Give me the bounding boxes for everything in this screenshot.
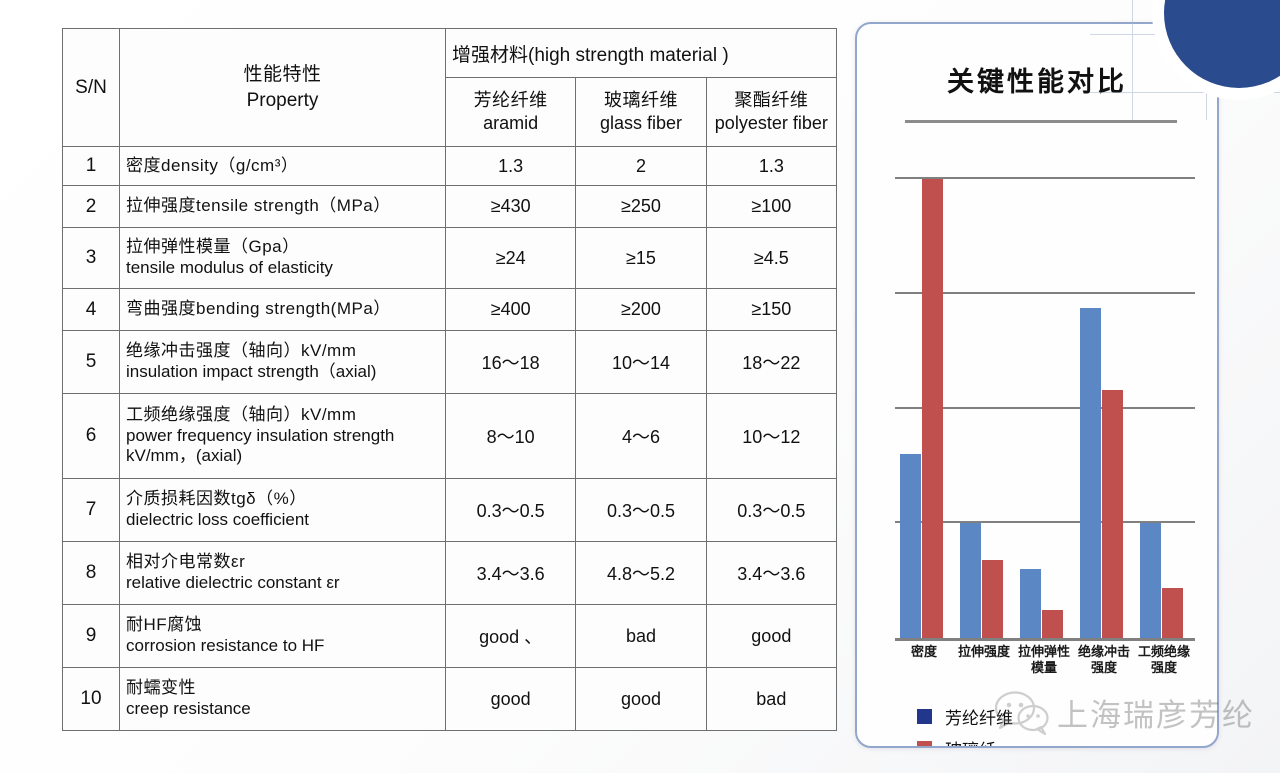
table-row: 6 工频绝缘强度（轴向）kV/mm power frequency insula… [63, 394, 837, 479]
row-value-aramid: ≥24 [446, 228, 576, 289]
header-material-glass: 玻璃纤维 glass fiber [576, 78, 706, 147]
legend-item[interactable]: 芳纶纤维 [917, 704, 1013, 729]
table-row: 4 弯曲强度bending strength(MPa） ≥400 ≥200 ≥1… [63, 289, 837, 331]
row-value-aramid: 16～18 [446, 331, 576, 394]
row-property: 弯曲强度bending strength(MPa） [120, 289, 446, 331]
table-row: 5 绝缘冲击强度（轴向）kV/mm insulation impact stre… [63, 331, 837, 394]
row-sn: 1 [63, 147, 120, 186]
table-row: 3 拉伸弹性模量（Gpa） tensile modulus of elastic… [63, 228, 837, 289]
row-value-aramid: good 、 [446, 605, 576, 668]
row-property-cn: 耐HF腐蚀 [126, 615, 439, 636]
chart-x-axis-labels: 密度拉伸强度拉伸弹性模量绝缘冲击强度工频绝缘强度 [895, 644, 1195, 704]
row-sn: 7 [63, 479, 120, 542]
row-value-polyester: bad [706, 668, 836, 731]
table-row: 1 密度density（g/cm³） 1.3 2 1.3 [63, 147, 837, 186]
table-header-row-group: S/N 性能特性 Property 增强材料(high strength mat… [63, 29, 837, 78]
row-property-cn: 绝缘冲击强度（轴向）kV/mm [126, 341, 439, 362]
row-value-aramid: 1.3 [446, 147, 576, 186]
chart-title-divider [905, 120, 1177, 123]
legend-label: 芳纶纤维 [945, 704, 1013, 729]
row-value-glass: ≥15 [576, 228, 706, 289]
chart-panel: 关键性能对比 密度拉伸强度拉伸弹性模量绝缘冲击强度工频绝缘强度 芳纶纤维玻璃纤 [855, 22, 1219, 748]
row-value-aramid: 8～10 [446, 394, 576, 479]
row-property-en: creep resistance [126, 699, 439, 720]
row-property: 工频绝缘强度（轴向）kV/mm power frequency insulati… [120, 394, 446, 479]
row-property: 拉伸弹性模量（Gpa） tensile modulus of elasticit… [120, 228, 446, 289]
header-material-glass-en: glass fiber [582, 112, 699, 135]
chart-x-label: 密度 [895, 644, 953, 660]
header-material-aramid: 芳纶纤维 aramid [446, 78, 576, 147]
chart-bar-0 [1140, 523, 1161, 638]
chart-bar-0 [960, 523, 981, 638]
legend-swatch-icon [917, 741, 932, 748]
row-value-aramid: ≥430 [446, 186, 576, 228]
row-property: 密度density（g/cm³） [120, 147, 446, 186]
chart-bar-1 [982, 560, 1003, 638]
row-property-en: corrosion resistance to HF [126, 636, 439, 657]
header-material-polyester-en: polyester fiber [713, 112, 830, 135]
row-value-glass: good [576, 668, 706, 731]
row-property-en: dielectric loss coefficient [126, 510, 439, 531]
row-value-aramid: ≥400 [446, 289, 576, 331]
row-sn: 8 [63, 542, 120, 605]
row-value-glass: 10～14 [576, 331, 706, 394]
specification-table: S/N 性能特性 Property 增强材料(high strength mat… [62, 28, 837, 731]
header-property: 性能特性 Property [120, 29, 446, 147]
row-value-polyester: 3.4～3.6 [706, 542, 836, 605]
row-value-polyester: 0.3～0.5 [706, 479, 836, 542]
row-sn: 5 [63, 331, 120, 394]
row-property-en: insulation impact strength（axial) [126, 362, 439, 383]
row-value-glass: ≥200 [576, 289, 706, 331]
row-value-polyester: ≥4.5 [706, 228, 836, 289]
table-row: 10 耐蠕变性 creep resistance good good bad [63, 668, 837, 731]
row-property-en: power frequency insulation strength kV/m… [126, 426, 439, 467]
row-value-glass: 2 [576, 147, 706, 186]
row-value-polyester: ≥100 [706, 186, 836, 228]
row-value-glass: bad [576, 605, 706, 668]
row-value-glass: 4.8～5.2 [576, 542, 706, 605]
row-value-aramid: good [446, 668, 576, 731]
chart-bar-1 [1042, 610, 1063, 638]
legend-label: 玻璃纤 [945, 736, 996, 748]
header-material-aramid-cn: 芳纶纤维 [452, 89, 569, 112]
chart-bar-1 [1162, 588, 1183, 638]
row-property: 相对介电常数εr relative dielectric constant εr [120, 542, 446, 605]
bar-chart-plot-area [895, 179, 1195, 641]
header-sn: S/N [63, 29, 120, 147]
row-sn: 10 [63, 668, 120, 731]
row-value-polyester: ≥150 [706, 289, 836, 331]
header-property-cn: 性能特性 [126, 62, 439, 88]
table-row: 8 相对介电常数εr relative dielectric constant … [63, 542, 837, 605]
row-property-cn: 密度density（g/cm³） [126, 156, 439, 177]
chart-bar-1 [922, 179, 943, 638]
chart-bar-0 [1080, 308, 1101, 638]
row-property: 拉伸强度tensile strength（MPa） [120, 186, 446, 228]
row-value-glass: 0.3～0.5 [576, 479, 706, 542]
row-property-cn: 拉伸强度tensile strength（MPa） [126, 196, 439, 217]
chart-x-label: 拉伸强度 [955, 644, 1013, 660]
row-property: 绝缘冲击强度（轴向）kV/mm insulation impact streng… [120, 331, 446, 394]
chart-legend: 芳纶纤维玻璃纤 [917, 704, 1013, 748]
row-sn: 4 [63, 289, 120, 331]
table-row: 2 拉伸强度tensile strength（MPa） ≥430 ≥250 ≥1… [63, 186, 837, 228]
row-property: 介质损耗因数tgδ（%） dielectric loss coefficient [120, 479, 446, 542]
row-sn: 6 [63, 394, 120, 479]
row-value-polyester: good [706, 605, 836, 668]
row-property-cn: 耐蠕变性 [126, 678, 439, 699]
header-material-glass-cn: 玻璃纤维 [582, 89, 699, 112]
chart-bar-0 [1020, 569, 1041, 638]
header-material-aramid-en: aramid [452, 112, 569, 135]
row-value-glass: 4～6 [576, 394, 706, 479]
header-material-polyester: 聚酯纤维 polyester fiber [706, 78, 836, 147]
header-material-polyester-cn: 聚酯纤维 [713, 89, 830, 112]
row-property-en: tensile modulus of elasticity [126, 258, 439, 279]
legend-item[interactable]: 玻璃纤 [917, 736, 1013, 748]
row-property: 耐蠕变性 creep resistance [120, 668, 446, 731]
row-property-cn: 工频绝缘强度（轴向）kV/mm [126, 405, 439, 426]
row-property-en: relative dielectric constant εr [126, 573, 439, 594]
chart-x-label: 工频绝缘强度 [1135, 644, 1193, 677]
row-sn: 3 [63, 228, 120, 289]
chart-x-label: 绝缘冲击强度 [1075, 644, 1133, 677]
header-material-group: 增强材料(high strength material ) [446, 29, 837, 78]
row-value-aramid: 3.4～3.6 [446, 542, 576, 605]
row-sn: 9 [63, 605, 120, 668]
chart-bar-1 [1102, 390, 1123, 638]
chart-bar-0 [900, 454, 921, 638]
row-property: 耐HF腐蚀 corrosion resistance to HF [120, 605, 446, 668]
row-property-cn: 介质损耗因数tgδ（%） [126, 489, 439, 510]
table-row: 7 介质损耗因数tgδ（%） dielectric loss coefficie… [63, 479, 837, 542]
chart-x-axis [895, 638, 1195, 641]
legend-swatch-icon [917, 709, 932, 724]
row-value-aramid: 0.3～0.5 [446, 479, 576, 542]
header-property-en: Property [126, 88, 439, 114]
row-property-cn: 弯曲强度bending strength(MPa） [126, 299, 439, 320]
row-sn: 2 [63, 186, 120, 228]
row-value-glass: ≥250 [576, 186, 706, 228]
chart-x-label: 拉伸弹性模量 [1015, 644, 1073, 677]
row-value-polyester: 10～12 [706, 394, 836, 479]
row-property-cn: 拉伸弹性模量（Gpa） [126, 237, 439, 258]
row-value-polyester: 18～22 [706, 331, 836, 394]
row-property-cn: 相对介电常数εr [126, 552, 439, 573]
row-value-polyester: 1.3 [706, 147, 836, 186]
table-row: 9 耐HF腐蚀 corrosion resistance to HF good … [63, 605, 837, 668]
